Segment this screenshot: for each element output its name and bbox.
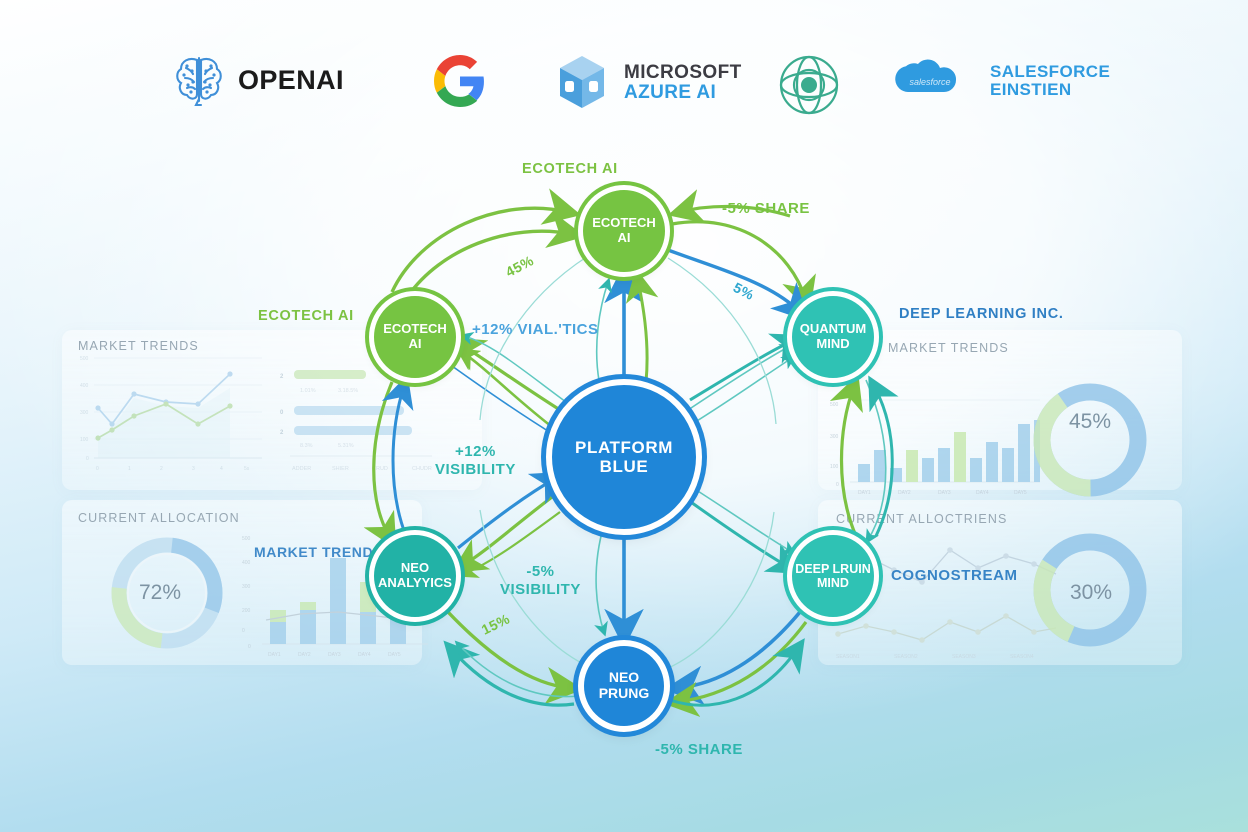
caption-ecotech-ai-top: ECOTECH AI [522, 161, 618, 177]
node-quantum-mind-line2: MIND [800, 337, 866, 352]
node-ecotech-ai-left-line1: ECOTECH [383, 322, 447, 337]
node-ecotech-ai-top-line2: AI [592, 231, 656, 246]
node-quantum-mind-line1: QUANTUM [800, 322, 866, 337]
node-quantum-mind[interactable]: QUANTUM MIND [787, 291, 879, 383]
edge-label-share-bottom: -5% SHARE [655, 741, 743, 759]
node-neo-prung-line2: PRUNG [599, 686, 650, 702]
node-ecotech-ai-top[interactable]: ECOTECH AI [578, 185, 670, 277]
node-neo-analyyics-line1: NEO [378, 561, 452, 576]
edge-label-visibility-minus-line2: VISIBILITY [500, 581, 581, 599]
node-ecotech-ai-left-line2: AI [383, 337, 447, 352]
node-deep-lruin-mind-line1: DEEP LRUIN [795, 562, 870, 576]
edge-label-visibility-plus-line1: +12% [435, 443, 516, 461]
node-ecotech-ai-top-line1: ECOTECH [592, 216, 656, 231]
caption-deep-learning-inc: DEEP LEARNING INC. [899, 306, 1064, 322]
node-platform-blue-line1: PLATFORM [575, 438, 673, 457]
edge-label-visibility-minus: -5% VISIBILITY [500, 563, 581, 599]
edge-label-visibility-minus-line1: -5% [500, 563, 581, 581]
edge-label-share-top-right: -5% SHARE [722, 200, 810, 218]
node-deep-lruin-mind-line2: MIND [795, 576, 870, 590]
edge-label-visibility-plus: +12% VISIBILITY [435, 443, 516, 479]
bg-panel-bottom-right-inner-title: COGNOSTREAM [891, 567, 1018, 584]
edge-label-visibility-plus-line2: VISIBILITY [435, 461, 516, 479]
node-neo-prung-line1: NEO [599, 670, 650, 686]
node-ecotech-ai-left[interactable]: ECOTECH AI [369, 291, 461, 383]
caption-ecotech-ai-left: ECOTECH AI [258, 308, 354, 324]
diagram-canvas: 5004003001000 012345s 202 1.01%3.18.5% 8… [0, 0, 1248, 832]
node-platform-blue-line2: BLUE [575, 457, 673, 476]
edge-label-analytics-12: +12% VIAL.'TICS [472, 321, 599, 339]
node-deep-lruin-mind[interactable]: DEEP LRUIN MIND [787, 530, 879, 622]
node-neo-analyyics-line2: ANALYYICS [378, 576, 452, 591]
node-neo-prung[interactable]: NEO PRUNG [578, 640, 670, 732]
node-platform-blue[interactable]: PLATFORM BLUE [546, 379, 702, 535]
node-neo-analyyics[interactable]: NEO ANALYYICS [369, 530, 461, 622]
